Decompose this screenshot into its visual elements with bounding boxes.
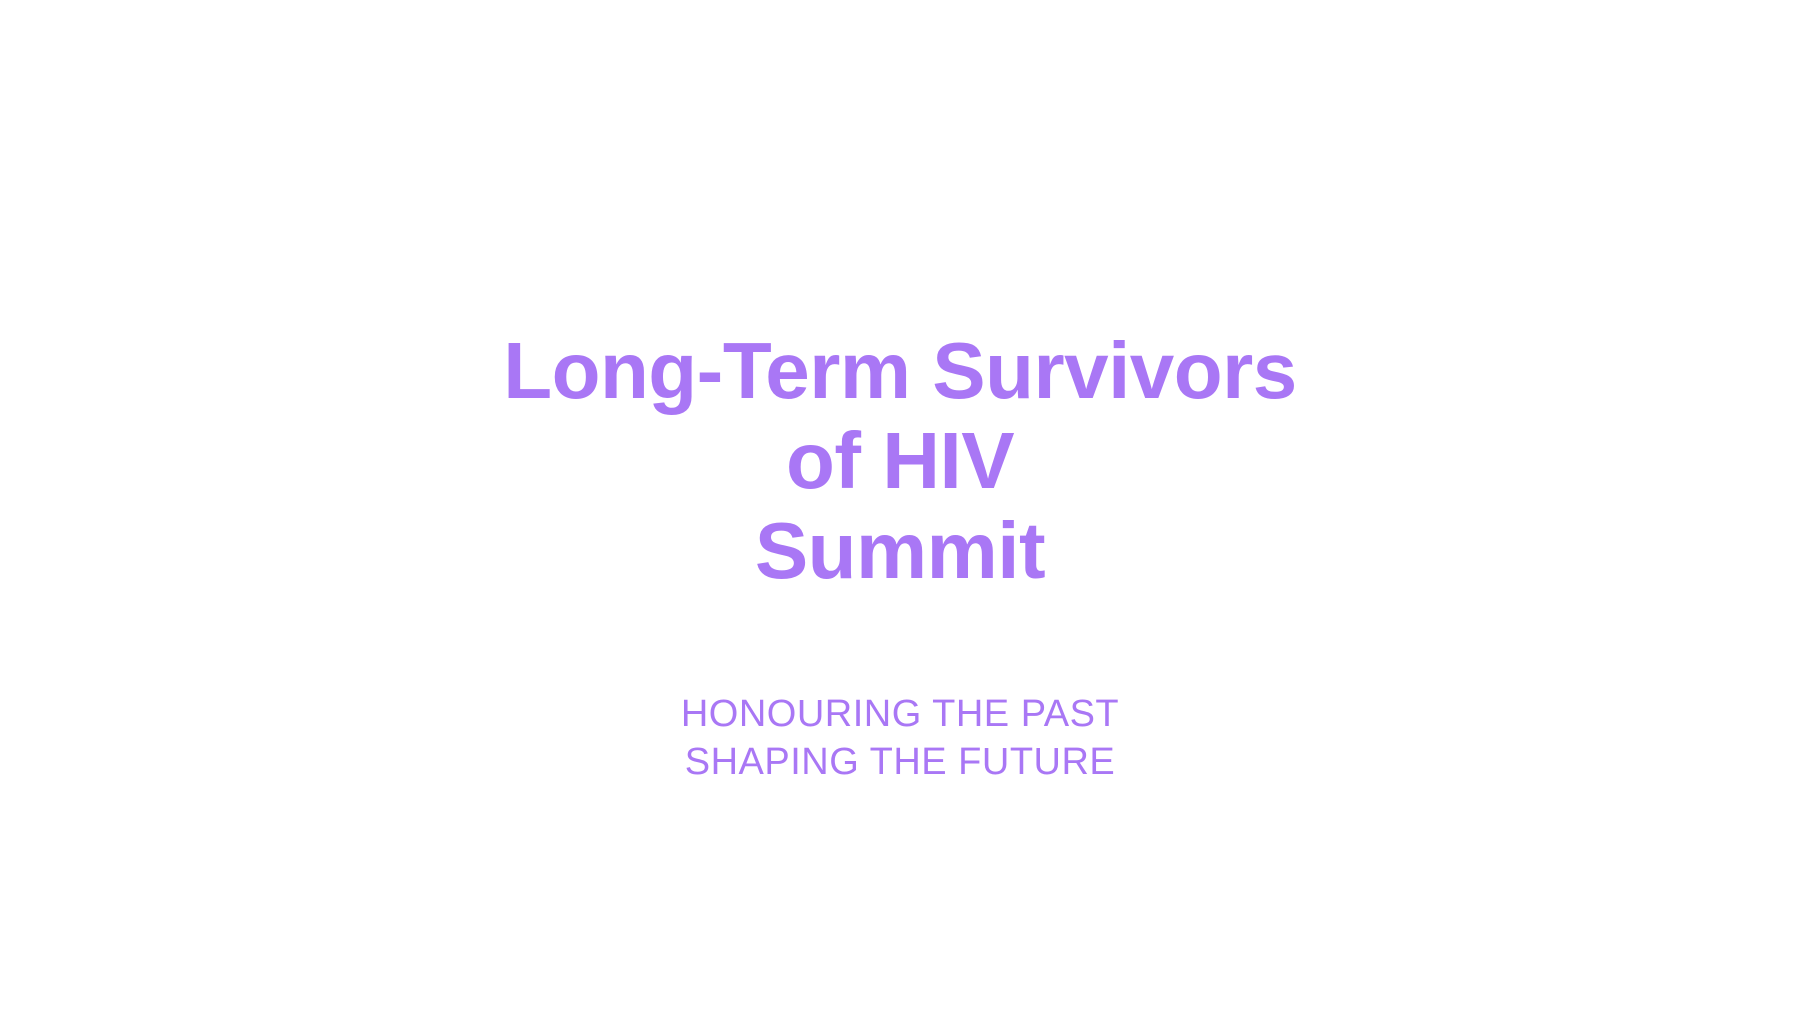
title-line-3: Summit (755, 506, 1045, 596)
page-title: Long-Term Survivors of HIV Summit (503, 326, 1297, 596)
title-line-1: Long-Term Survivors (503, 326, 1297, 416)
subtitle-line-1: HONOURING THE PAST (681, 690, 1119, 738)
title-slide: Long-Term Survivors of HIV Summit HONOUR… (0, 0, 1800, 1024)
page-subtitle: HONOURING THE PAST SHAPING THE FUTURE (681, 690, 1119, 786)
title-line-2: of HIV (786, 416, 1014, 506)
subtitle-line-2: SHAPING THE FUTURE (685, 738, 1116, 786)
slide-content-stack: Long-Term Survivors of HIV Summit HONOUR… (0, 0, 1800, 1024)
